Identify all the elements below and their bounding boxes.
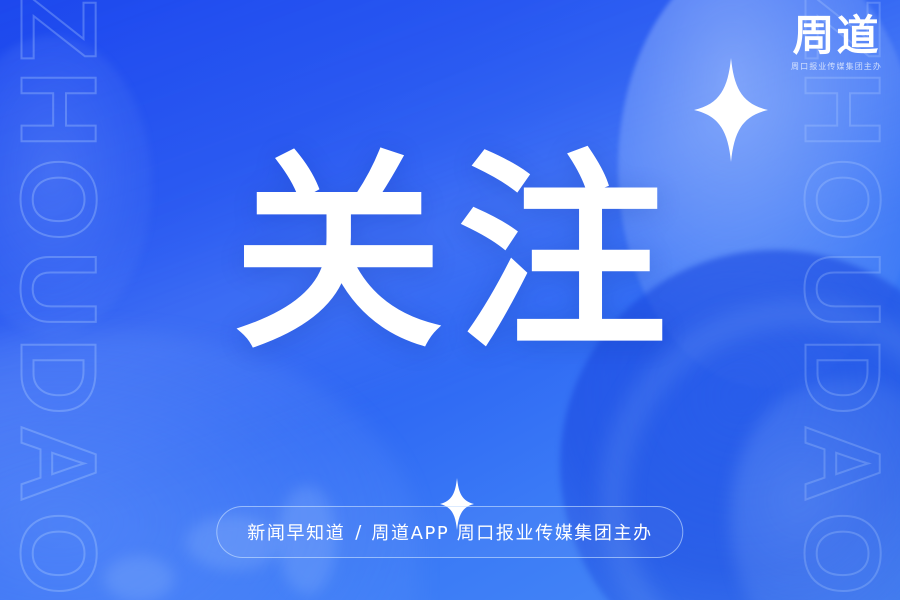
footer-separator: / <box>345 522 371 543</box>
brand-logo[interactable]: 周道 周口报业传媒集团主办 <box>791 14 882 71</box>
footer-banner[interactable]: 新闻早知道 / 周道APP 周口报业传媒集团主办 <box>216 506 683 558</box>
page-title: 关注 <box>0 150 900 360</box>
brand-mark-text: 周道 <box>791 14 882 58</box>
footer-left-label: 新闻早知道 <box>247 519 345 545</box>
footer-right-label: 周道APP 周口报业传媒集团主办 <box>371 519 652 545</box>
poster-canvas: ZHOUDAO ZHOUDAO 周道 周口报业传媒集团主办 关注 新闻早知道 /… <box>0 0 900 600</box>
pebble-shape <box>104 556 174 600</box>
brand-subtitle: 周口报业传媒集团主办 <box>791 63 882 71</box>
